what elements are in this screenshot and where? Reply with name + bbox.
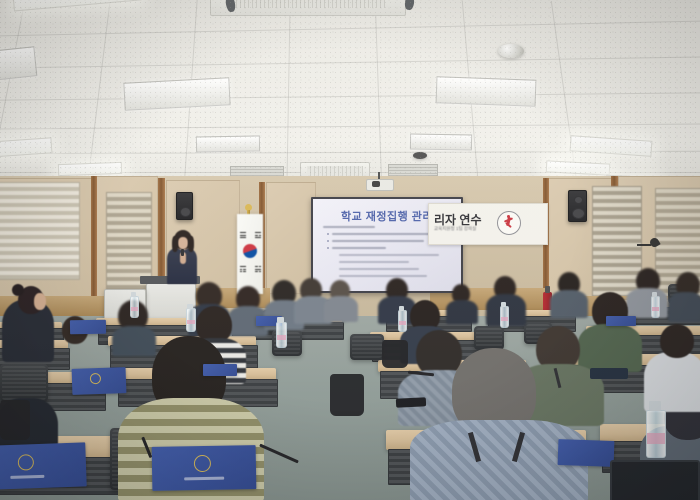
water-bottle[interactable] — [651, 296, 660, 318]
water-bottle[interactable] — [130, 296, 139, 318]
presenter-face — [178, 237, 188, 249]
phone-on-desk[interactable] — [396, 397, 426, 408]
water-bottle[interactable] — [276, 322, 287, 348]
ceiling-speaker-dome — [413, 152, 427, 159]
wall-wood-column — [91, 176, 97, 310]
ac-louver-right — [404, 0, 415, 11]
presenter-hair-side — [172, 236, 178, 252]
bag-on-chair — [382, 340, 408, 368]
fire-extinguisher-valve — [545, 286, 550, 293]
wall-speaker-left — [176, 192, 193, 220]
ceiling-light-panel — [12, 0, 140, 12]
ceiling-light-panel — [58, 162, 122, 176]
attendee-body — [446, 300, 478, 324]
attendee-body — [578, 324, 642, 372]
conference-room-photo: 학교 재정집행 관리 리자 연수 교육지원청 1팀 강의실 — [0, 0, 700, 500]
attendee-hair-bun — [12, 284, 24, 296]
bag-on-floor — [0, 400, 30, 440]
bag-on-floor — [330, 374, 364, 416]
ceiling-light-panel — [570, 135, 653, 157]
attendee-body — [112, 326, 156, 356]
ac-louver-left — [225, 0, 237, 13]
blue-folder[interactable] — [606, 316, 636, 326]
bottle-cap — [649, 401, 661, 411]
ceiling-tile-panel — [196, 135, 260, 152]
water-bottle-foreground[interactable] — [646, 410, 666, 458]
monitor-on-desk[interactable] — [610, 460, 700, 500]
taegukgi-flag — [237, 214, 263, 294]
banner-logo-icon — [497, 211, 521, 235]
attendee-face — [34, 293, 46, 310]
ceiling-light-panel — [546, 160, 611, 175]
ceiling-light-panel — [0, 137, 52, 158]
water-bottle[interactable] — [500, 306, 509, 328]
presenter-hair-side — [188, 236, 194, 252]
blue-folder[interactable] — [203, 364, 237, 376]
microphone-icon — [181, 249, 184, 256]
wall-camera-arm — [637, 244, 651, 246]
attendee-body — [626, 288, 668, 318]
attendee-body — [668, 292, 700, 322]
water-bottle[interactable] — [398, 310, 407, 332]
bottle-cap — [501, 302, 506, 307]
blue-folder[interactable] — [152, 445, 257, 491]
attendee-body — [550, 290, 588, 318]
ceiling — [0, 0, 700, 190]
window-blinds-left — [0, 182, 80, 280]
water-bottle[interactable] — [186, 308, 196, 332]
ceiling-vent — [388, 164, 438, 176]
ceiling-tile-panel — [436, 76, 537, 106]
ceiling-smoke-detector — [498, 44, 524, 58]
ceiling-tile-panel — [123, 77, 230, 111]
taeguk-symbol — [243, 244, 257, 258]
chair[interactable] — [474, 326, 504, 350]
ceiling-tile-panel — [410, 133, 472, 150]
ceiling-tile-grid — [0, 0, 700, 190]
banner-subtitle: 교육지원청 1팀 강의실 — [434, 226, 506, 232]
bottle-cap — [652, 292, 657, 297]
chair[interactable] — [350, 334, 384, 360]
blue-folder[interactable] — [0, 442, 87, 489]
chair[interactable] — [0, 364, 48, 402]
blue-folder[interactable] — [558, 439, 615, 467]
ceiling-projector — [366, 179, 394, 191]
blue-folder[interactable] — [70, 320, 106, 335]
bottle-cap — [131, 292, 136, 297]
ceiling-ac-unit — [210, 0, 406, 16]
blue-folder[interactable] — [72, 367, 127, 395]
bottle-cap — [399, 306, 404, 311]
wall-speaker-right — [568, 190, 587, 222]
attendee-body — [324, 296, 358, 322]
notebook-on-desk[interactable] — [590, 368, 628, 379]
bottle-cap — [187, 304, 193, 309]
projector-lens — [372, 181, 380, 187]
attendee-head — [660, 324, 694, 358]
ceiling-tile-panel — [0, 46, 37, 84]
bottle-cap — [277, 317, 284, 323]
